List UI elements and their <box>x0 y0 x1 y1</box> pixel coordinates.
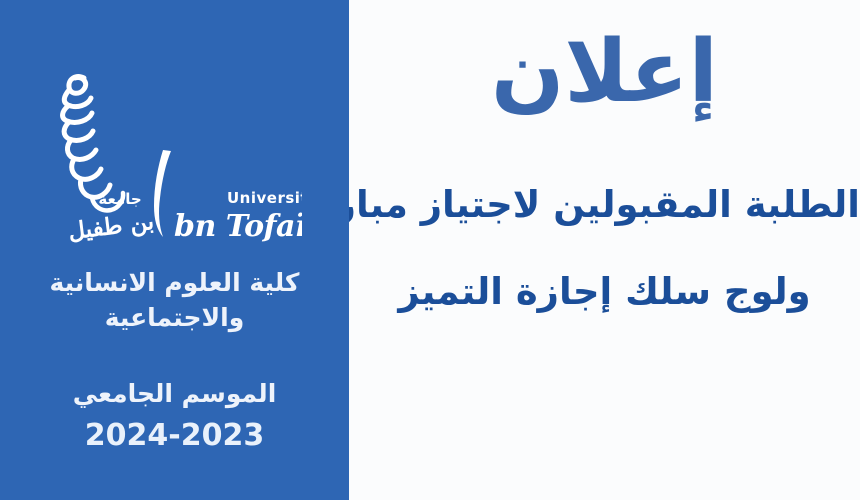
announcement-poster: إعلان الطلبة المقبولين لاجتياز مباراة ول… <box>0 0 860 500</box>
svg-text:بن طفيل: بن طفيل <box>67 208 156 246</box>
faculty-name-line-2: والاجتماعية <box>0 301 349 336</box>
announcement-body-line-1: الطلبة المقبولين لاجتياز مباراة <box>349 186 860 223</box>
page-title: إعلان <box>349 14 860 130</box>
svg-text:Université: Université <box>227 189 302 207</box>
university-logo: جامعة بن طفيل Université bn Tofaïl <box>0 62 349 247</box>
svg-text:bn Tofaïl: bn Tofaïl <box>174 209 302 244</box>
academic-season: الموسم الجامعي 2024-2023 <box>0 378 349 451</box>
faculty-name: كلية العلوم الانسانية والاجتماعية <box>0 266 349 335</box>
faculty-name-line-1: كلية العلوم الانسانية <box>0 266 349 301</box>
academic-season-year: 2024-2023 <box>0 421 349 451</box>
ibn-tofail-university-logo-icon: جامعة بن طفيل Université bn Tofaïl <box>22 62 302 247</box>
right-branding-panel: جامعة بن طفيل Université bn Tofaïl كلية … <box>0 0 349 500</box>
academic-season-label: الموسم الجامعي <box>0 378 349 409</box>
svg-text:جامعة: جامعة <box>98 190 141 208</box>
announcement-body: الطلبة المقبولين لاجتياز مباراة ولوج سلك… <box>349 186 860 310</box>
announcement-body-line-2: ولوج سلك إجازة التميز <box>349 273 860 310</box>
left-content-panel: إعلان الطلبة المقبولين لاجتياز مباراة ول… <box>349 0 860 500</box>
